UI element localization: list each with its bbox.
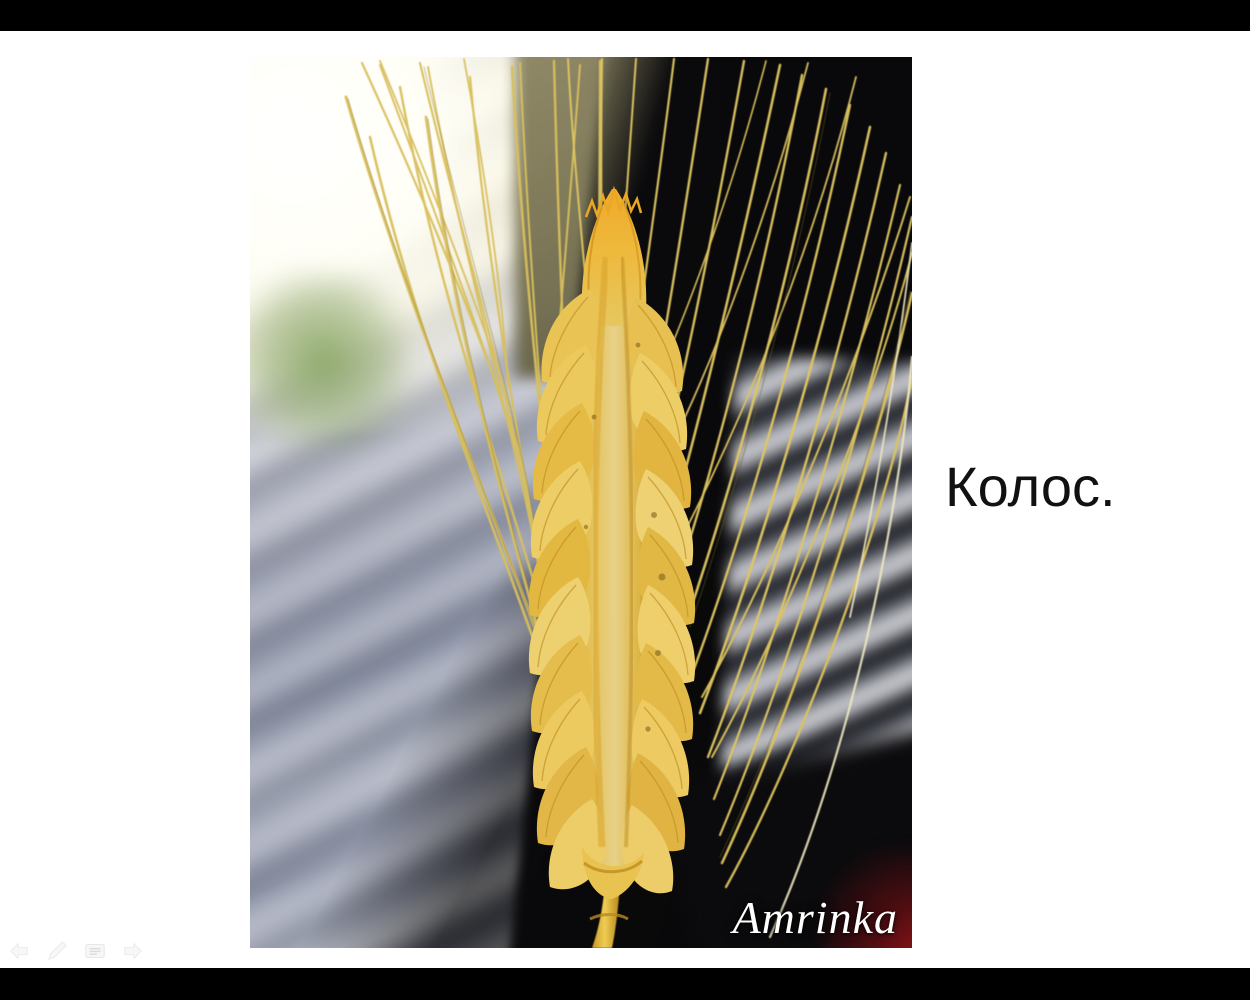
right-arrow-icon: [122, 940, 144, 962]
letterbox-bar-bottom: [0, 968, 1250, 1000]
menu-icon: [84, 940, 106, 962]
pen-tool-button[interactable]: [46, 940, 68, 962]
slide-caption: Колос.: [945, 455, 1116, 519]
previous-slide-button[interactable]: [8, 940, 30, 962]
slide-menu-button[interactable]: [84, 940, 106, 962]
letterbox-bar-top: [0, 0, 1250, 31]
wheat-ear-illustration: [250, 57, 912, 948]
left-arrow-icon: [8, 940, 30, 962]
pen-icon: [46, 940, 68, 962]
photo-watermark: Amrinka: [733, 891, 898, 944]
wheat-ear-photograph: Amrinka: [250, 57, 912, 948]
presentation-nav-toolbar[interactable]: [8, 936, 138, 966]
slide-canvas: Amrinka Колос.: [0, 31, 1250, 968]
next-slide-button[interactable]: [122, 940, 144, 962]
presentation-viewport: Amrinka Колос.: [0, 0, 1250, 1000]
